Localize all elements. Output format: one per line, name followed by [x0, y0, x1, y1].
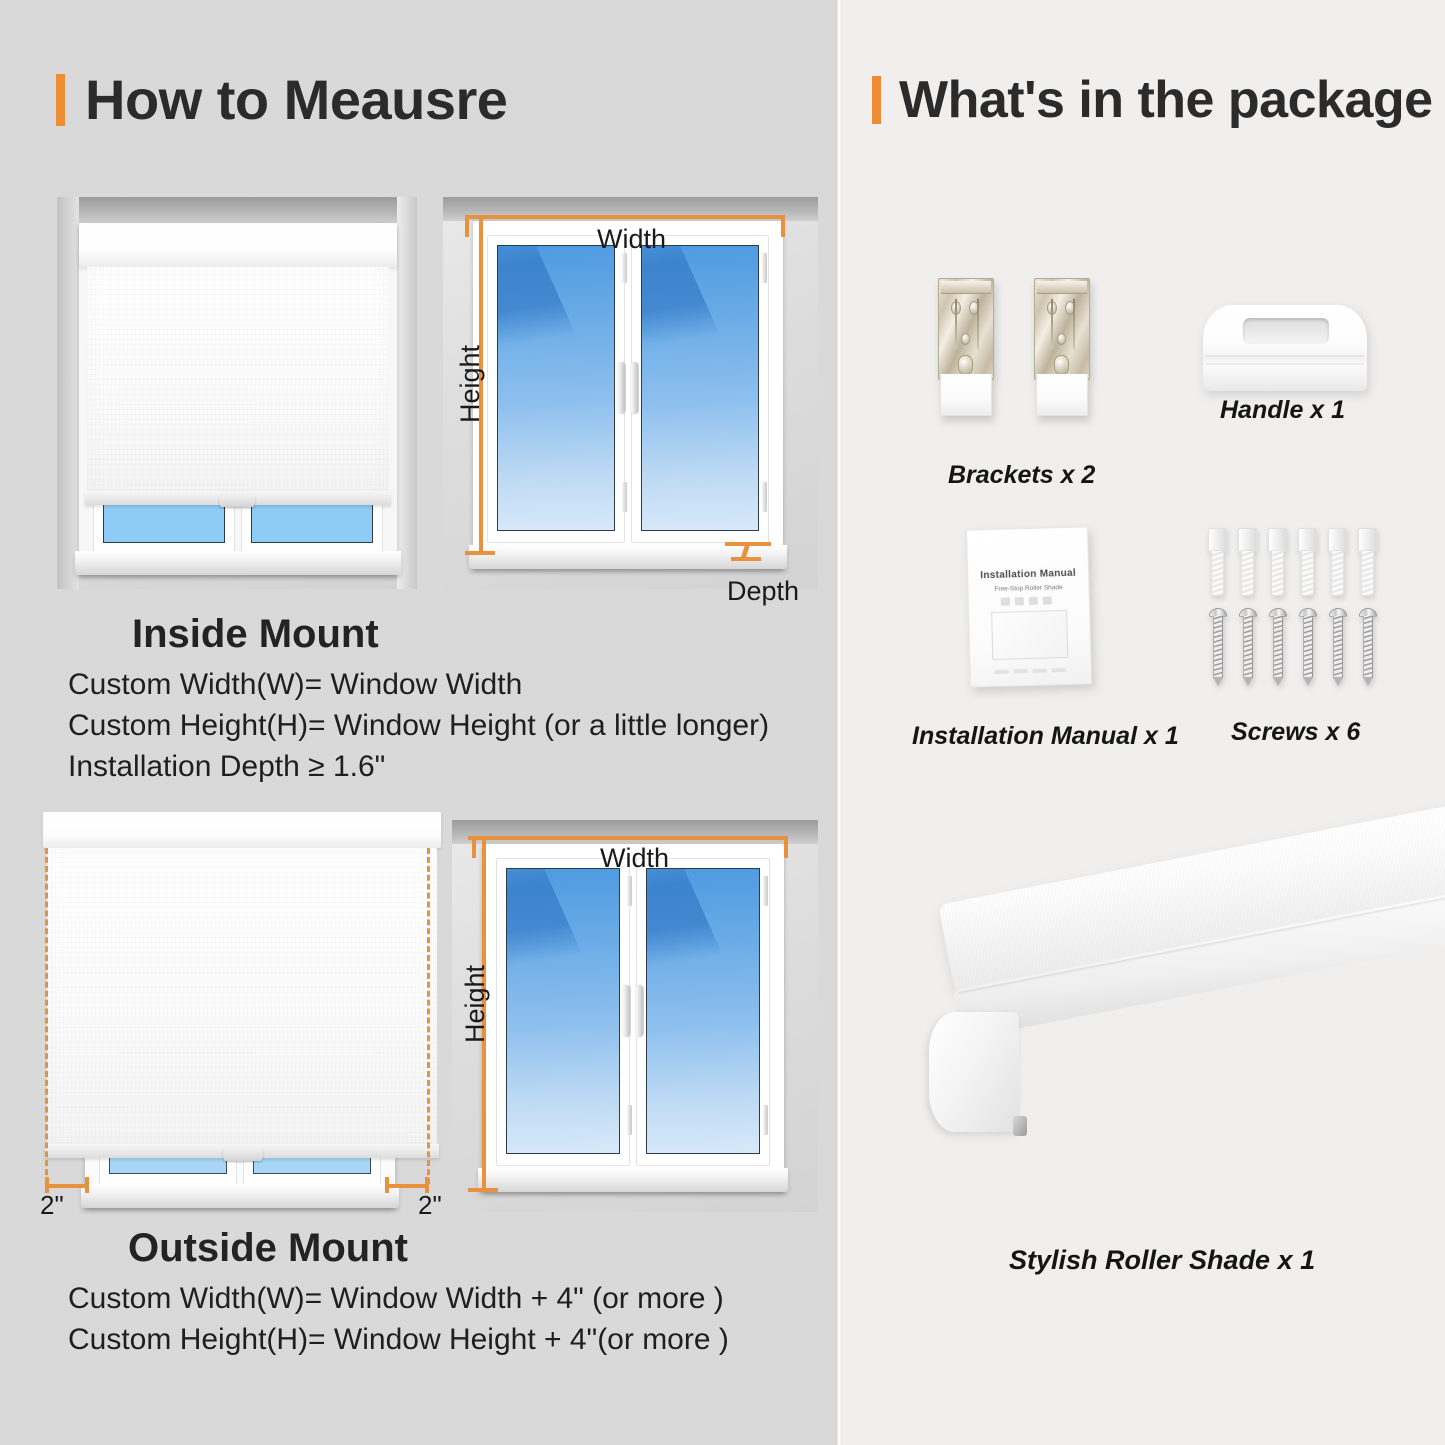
accent-bar-icon: [56, 74, 65, 126]
depth-measure-base: [731, 557, 761, 561]
anchor-body: [1271, 550, 1284, 596]
width-measure-line: [465, 215, 785, 219]
outside-shade-fabric: [47, 848, 437, 1148]
outside-window-handles[interactable]: [623, 985, 644, 1037]
outside-mount-title: Outside Mount: [128, 1226, 408, 1271]
outside-hinge-tr: [763, 876, 768, 906]
wall-anchor-3: [1268, 528, 1287, 594]
bracket-item-2: [1034, 278, 1090, 418]
screw-shaft: [1273, 616, 1283, 678]
bracket-groove-left: [1051, 299, 1053, 349]
handle-item: [1203, 305, 1367, 391]
roller-shade-label: Stylish Roller Shade x 1: [1009, 1245, 1315, 1276]
screw-1: [1209, 608, 1227, 686]
anchor-body: [1361, 550, 1374, 596]
overhang-right-label: 2": [418, 1190, 442, 1221]
anchor-body: [1241, 550, 1254, 596]
infographic-page: How to Meausre: [0, 0, 1445, 1445]
inside-mount-measure-diagram: [443, 197, 818, 589]
shade-pull-handle[interactable]: [219, 495, 255, 507]
measured-hinge-br: [762, 482, 767, 512]
overhang-left-endcap-b: [85, 1177, 89, 1193]
overhang-dashline-right: [427, 848, 430, 1184]
handle-slot-icon: [1243, 318, 1329, 344]
overhang-right-endcap-a: [385, 1177, 389, 1193]
handle-label: Handle x 1: [1220, 396, 1345, 425]
glass-glare: [641, 245, 741, 428]
manual-cover-subtitle: Free-Stop Roller Shade: [968, 583, 1088, 593]
window-handle-left-icon: [623, 985, 631, 1037]
manual-cover-scribble: [1001, 596, 1057, 605]
outside-mount-shade-illustration: [33, 812, 445, 1212]
screw-shaft: [1333, 616, 1343, 678]
window-handle-right-icon: [631, 362, 639, 414]
roller-shade-outside: [43, 812, 441, 1190]
wall-anchor-2: [1238, 528, 1257, 594]
outside-mount-specs: Custom Width(W)= Window Width + 4" (or m…: [68, 1284, 729, 1366]
bracket-top-lip: [941, 281, 991, 294]
wall-anchor-5: [1328, 528, 1347, 594]
screw-6: [1359, 608, 1377, 686]
brackets-group: [930, 278, 1120, 428]
screws-label: Screws x 6: [1231, 718, 1360, 747]
measured-window: [473, 221, 783, 569]
bracket-top-lip: [1037, 281, 1087, 294]
outside-width-label: Width: [600, 843, 669, 874]
anchor-head: [1298, 528, 1317, 552]
manual-cover-title: Installation Manual: [968, 567, 1088, 581]
outside-hinge-tl: [627, 876, 632, 906]
height-endcap-top: [465, 215, 495, 219]
inside-spec-line-1: Custom Width(W)= Window Width: [68, 670, 769, 700]
roller-shade-inside: [79, 223, 397, 553]
wall-anchor-1: [1208, 528, 1227, 594]
inside-mount-shade-illustration: [57, 197, 417, 589]
window-sill: [75, 551, 401, 575]
inside-mount-specs: Custom Width(W)= Window Width Custom Hei…: [68, 670, 769, 793]
screw-shaft: [1213, 616, 1223, 678]
screw-tip: [1213, 677, 1223, 686]
shade-fabric: [87, 267, 389, 495]
outside-hinge-br: [763, 1105, 768, 1135]
bracket-slot: [1054, 355, 1069, 375]
how-to-measure-heading-text: How to Meausre: [85, 72, 507, 128]
wall-recess-top: [57, 197, 417, 223]
measured-hinge-tr: [762, 253, 767, 283]
bracket-hole-3: [961, 333, 970, 345]
height-label: Height: [455, 345, 486, 423]
screw-5: [1329, 608, 1347, 686]
bracket-slot: [958, 355, 973, 375]
wall-recess-right: [397, 197, 417, 589]
overhang-left-label: 2": [40, 1190, 64, 1221]
bracket-groove-right: [1073, 299, 1075, 349]
shade-headrail: [79, 223, 397, 267]
handle-ridge-1: [1206, 355, 1364, 357]
outside-width-measure-line: [472, 836, 788, 840]
depth-label: Depth: [727, 576, 799, 607]
screw-tip: [1303, 677, 1313, 686]
window-handles[interactable]: [618, 362, 639, 414]
roller-shade-metal-tip: [1013, 1116, 1027, 1136]
glass-glare: [506, 868, 602, 1046]
width-label: Width: [597, 224, 666, 255]
width-endcap-right: [781, 215, 785, 237]
anchor-head: [1208, 528, 1227, 552]
bracket-plastic-base: [1036, 374, 1088, 416]
measured-hinge-bl: [622, 482, 627, 512]
package-heading-text: What's in the package: [899, 74, 1433, 126]
anchor-body: [1331, 550, 1344, 596]
anchor-body: [1211, 550, 1224, 596]
anchor-head: [1328, 528, 1347, 552]
outside-hinge-bl: [627, 1105, 632, 1135]
screw-shaft: [1303, 616, 1313, 678]
wall-recess-left: [57, 197, 79, 589]
overhang-dashline-left: [45, 848, 48, 1184]
screw-tip: [1333, 677, 1343, 686]
outside-measured-window-sill: [478, 1168, 788, 1192]
inside-mount-title: Inside Mount: [132, 612, 379, 657]
bracket-groove-right: [977, 299, 979, 349]
screw-tip: [1363, 677, 1373, 686]
outside-spec-line-2: Custom Height(H)= Window Height + 4"(or …: [68, 1325, 729, 1355]
installation-manual-label: Installation Manual x 1: [912, 722, 1179, 751]
measured-glass-left: [497, 245, 615, 531]
bracket-metal-body: [938, 278, 994, 380]
screw-tip: [1243, 677, 1253, 686]
manual-cover-footer: [995, 668, 1067, 674]
glass-glare: [646, 868, 742, 1046]
outside-measured-window: [482, 844, 784, 1192]
screw-4: [1299, 608, 1317, 686]
height-endcap-bottom: [465, 551, 495, 555]
bracket-plastic-base: [940, 374, 992, 416]
roller-shade-end-cap: [929, 1012, 1019, 1132]
bracket-groove-left: [955, 299, 957, 349]
outside-shade-headrail: [43, 812, 441, 848]
overhang-left-measure: [45, 1184, 89, 1188]
outside-measure-recess-top: [452, 820, 818, 844]
screw-3: [1269, 608, 1287, 686]
roller-shade-product-photo: [895, 880, 1445, 1210]
how-to-measure-heading: How to Meausre: [56, 72, 507, 128]
outside-measured-glass-left: [506, 868, 620, 1154]
outside-shade-pull-handle[interactable]: [223, 1148, 263, 1161]
outside-mount-measure-diagram: [452, 820, 818, 1212]
wall-anchor-4: [1298, 528, 1317, 594]
inside-spec-line-2: Custom Height(H)= Window Height (or a li…: [68, 711, 769, 741]
anchor-head: [1268, 528, 1287, 552]
screw-shaft: [1243, 616, 1253, 678]
brackets-label: Brackets x 2: [948, 461, 1095, 490]
outside-height-endcap-top: [468, 836, 498, 840]
anchor-body: [1301, 550, 1314, 596]
bracket-metal-body: [1034, 278, 1090, 380]
measured-glass-right: [641, 245, 759, 531]
outside-height-label: Height: [460, 965, 491, 1043]
screw-tip: [1273, 677, 1283, 686]
installation-manual-item: Installation Manual Free-Stop Roller Sha…: [966, 526, 1092, 687]
glass-glare: [497, 245, 597, 428]
screw-2: [1239, 608, 1257, 686]
outside-measured-sash-left: [496, 858, 630, 1166]
inside-spec-line-3: Installation Depth ≥ 1.6": [68, 752, 769, 782]
outside-spec-line-1: Custom Width(W)= Window Width + 4" (or m…: [68, 1284, 729, 1314]
window-handle-right-icon: [636, 985, 644, 1037]
measured-hinge-tl: [622, 253, 627, 283]
accent-bar-icon: [872, 76, 881, 124]
bracket-hole-3: [1057, 333, 1066, 345]
manual-cover-figure: [991, 610, 1068, 660]
window-handle-left-icon: [618, 362, 626, 414]
measured-sash-left: [487, 235, 625, 543]
anchor-head: [1358, 528, 1377, 552]
bracket-item-1: [938, 278, 994, 418]
overhang-right-measure: [385, 1184, 429, 1188]
measured-sash-right: [631, 235, 769, 543]
outside-width-endcap-right: [784, 836, 788, 858]
anchor-head: [1238, 528, 1257, 552]
screw-shaft: [1363, 616, 1373, 678]
outside-measured-sash-right: [636, 858, 770, 1166]
outside-measured-glass-right: [646, 868, 760, 1154]
wall-anchor-6: [1358, 528, 1377, 594]
outside-height-endcap-bottom: [468, 1188, 498, 1192]
handle-ridge-2: [1206, 363, 1364, 365]
package-heading: What's in the package: [872, 74, 1433, 126]
screws-group: [1208, 528, 1388, 698]
